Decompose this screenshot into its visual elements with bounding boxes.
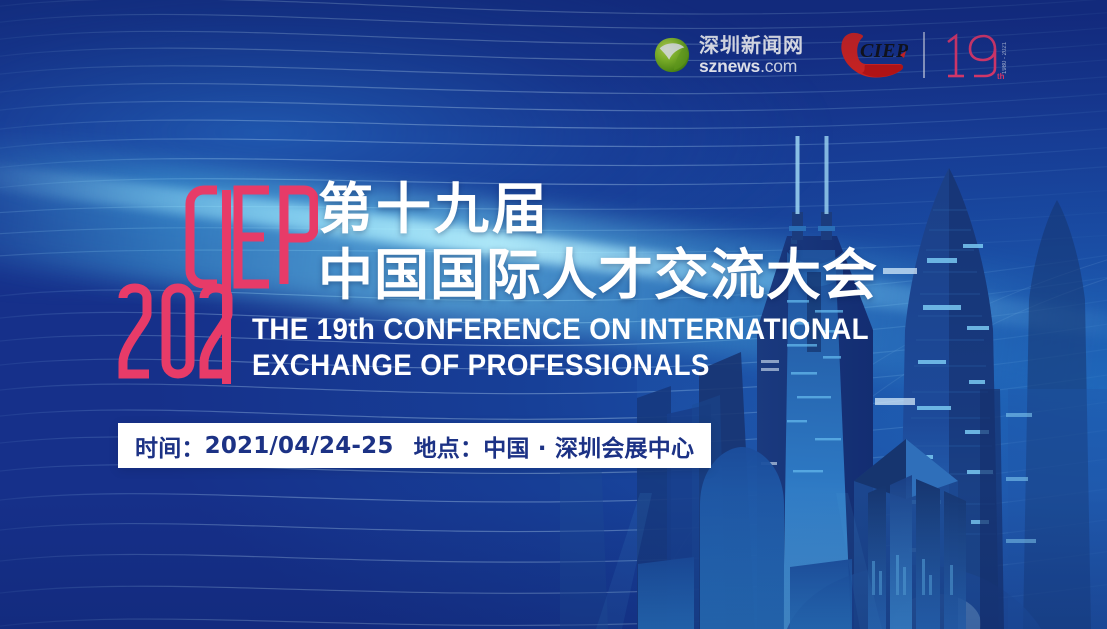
- event-info-bar: 时间： 2021/04/24-25 地点： 中国 · 深圳会展中心: [118, 423, 711, 468]
- ciep-red-bowl-icon: CIEP: [838, 31, 908, 79]
- place-label: 地点：: [414, 429, 484, 463]
- edition-caption: 1980 - 2021: [1002, 41, 1008, 74]
- title-chinese-line1: 第十九届: [318, 176, 918, 242]
- sznews-chinese-name: 深圳新闻网: [699, 35, 804, 55]
- time-value: 2021/04/24-25: [205, 433, 394, 459]
- time-label: 时间：: [135, 429, 205, 463]
- nineteenth-edition-badge: th 1980 - 2021: [940, 28, 1010, 83]
- sznews-domain: sznews.com: [699, 58, 804, 76]
- sznews-domain-suffix: .com: [760, 56, 797, 76]
- conference-title-block: 第十九届 中国国际人才交流大会: [318, 176, 918, 308]
- conference-subtitle-english: THE 19th CONFERENCE ON INTERNATIONAL EXC…: [252, 312, 872, 384]
- ciep-official-logo[interactable]: CIEP th 1980 - 2021: [838, 28, 1010, 83]
- place-value: 中国 · 深圳会展中心: [483, 429, 694, 463]
- subtitle-english-line1: THE 19th CONFERENCE ON INTERNATIONAL: [252, 312, 872, 348]
- sznews-logo[interactable]: 深圳新闻网 sznews.com: [653, 35, 804, 76]
- svg-text:CIEP: CIEP: [860, 40, 908, 62]
- green-leaf-icon: [653, 36, 691, 74]
- logo-divider: [923, 32, 925, 78]
- header-logos: 深圳新闻网 sznews.com CIEP: [653, 26, 1010, 84]
- title-chinese-line2: 中国国际人才交流大会: [318, 242, 918, 308]
- sznews-wordmark: 深圳新闻网 sznews.com: [699, 35, 804, 76]
- subtitle-english-line2: EXCHANGE OF PROFESSIONALS: [252, 348, 872, 384]
- ciep-conference-poster: 第十九届 中国国际人才交流大会 THE 19th CONFERENCE ON I…: [0, 0, 1107, 629]
- sznews-domain-bold: sznews: [699, 56, 760, 76]
